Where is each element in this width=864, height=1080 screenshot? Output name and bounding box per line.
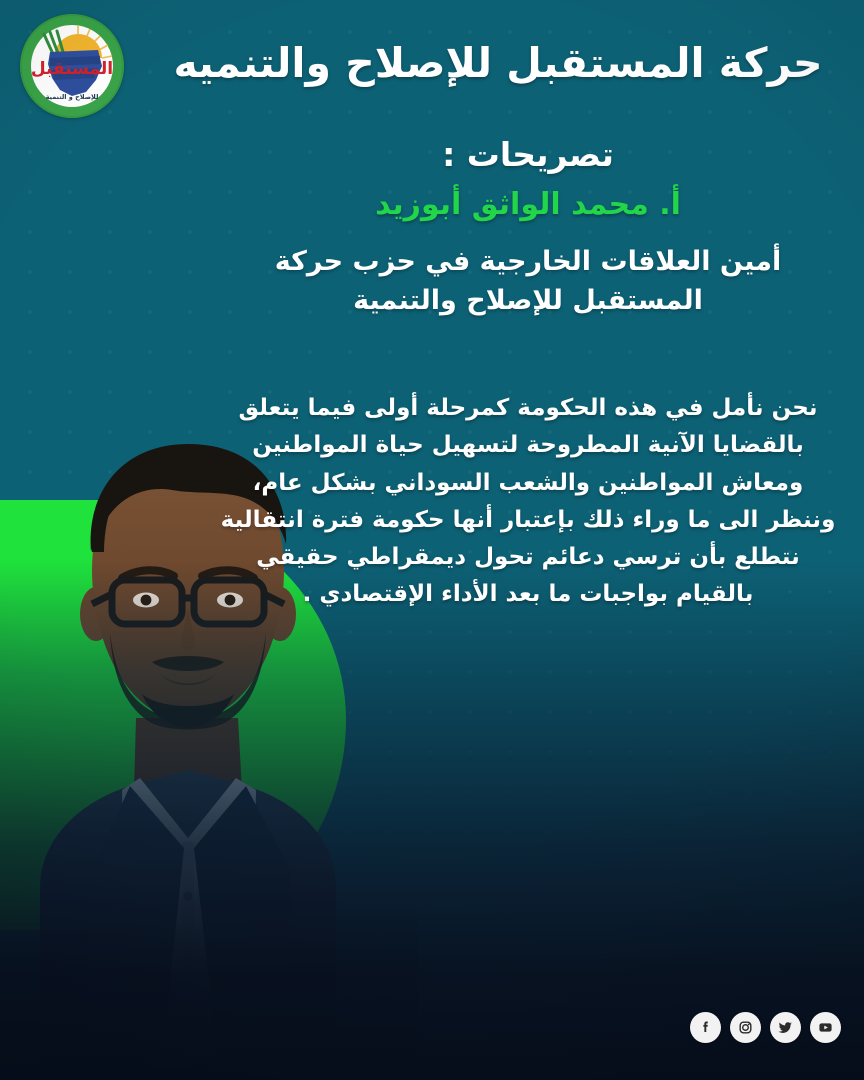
youtube-icon[interactable]: [810, 1012, 841, 1043]
social-links: [690, 1012, 841, 1043]
movement-logo: المستقبل للإصلاح و التنمية: [20, 14, 124, 118]
svg-text:للإصلاح و التنمية: للإصلاح و التنمية: [46, 93, 99, 101]
twitter-icon[interactable]: [770, 1012, 801, 1043]
instagram-icon[interactable]: [730, 1012, 761, 1043]
speaker-name: أ. محمد الواثق أبوزيد: [218, 185, 838, 224]
statements-kicker: تصريحات :: [218, 134, 838, 177]
poster-canvas: المستقبل للإصلاح و التنمية حركة المستقبل…: [0, 0, 864, 1080]
svg-text:المستقبل: المستقبل: [31, 59, 113, 79]
brand-title: حركة المستقبل للإصلاح والتنميه: [150, 16, 846, 112]
facebook-icon[interactable]: [690, 1012, 721, 1043]
speaker-heading-block: تصريحات : أ. محمد الواثق أبوزيد أمين الع…: [218, 134, 838, 320]
poster-header: المستقبل للإصلاح و التنمية حركة المستقبل…: [0, 0, 864, 128]
statement-body: نحن نأمل في هذه الحكومة كمرحلة أولى فيما…: [218, 390, 838, 614]
speaker-role: أمين العلاقات الخارجية في حزب حركة المست…: [218, 242, 838, 320]
statement-paragraph: نحن نأمل في هذه الحكومة كمرحلة أولى فيما…: [218, 390, 838, 614]
